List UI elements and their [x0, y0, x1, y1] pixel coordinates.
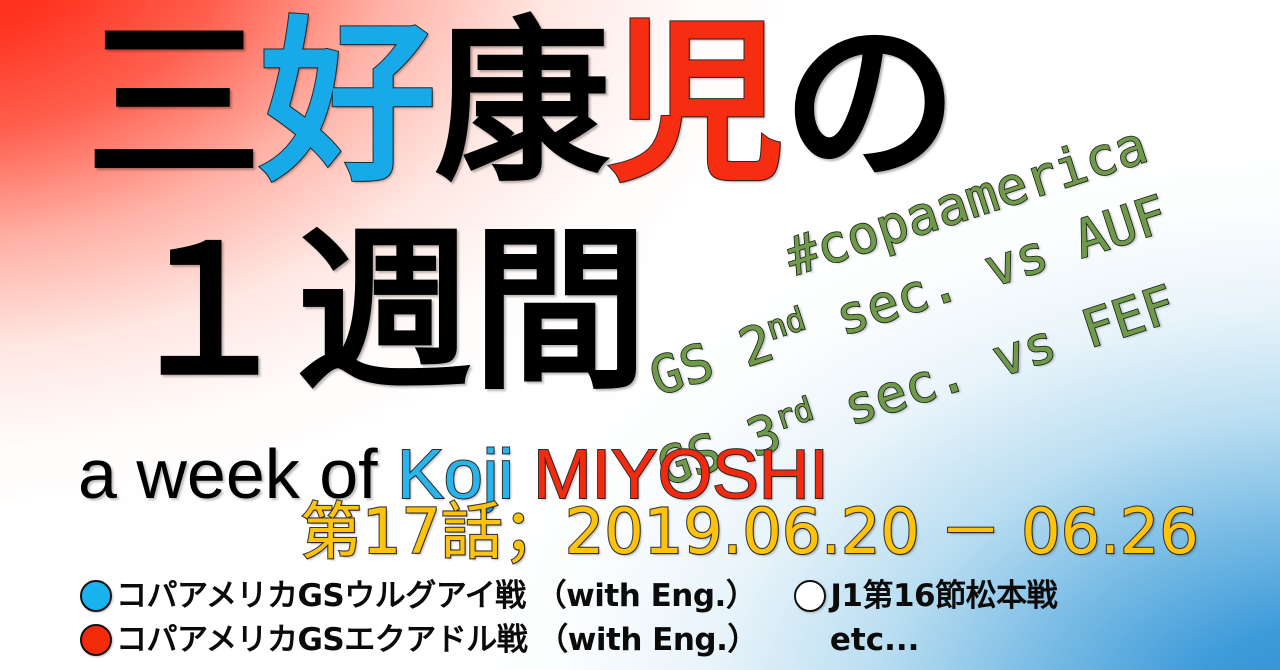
list-item-etc: etc... — [830, 618, 920, 662]
title-char-yoshi: 好 — [260, 1, 434, 206]
list-item-note: （with Eng.） — [536, 574, 757, 618]
list-item: コパアメリカGSエクアドル戦 （with Eng.） etc... — [80, 618, 1270, 662]
title-char-ko: 康 — [434, 1, 608, 206]
list-item-label: コパアメリカGSウルグアイ戦 — [116, 574, 526, 618]
title-char-no: の — [782, 1, 956, 206]
list-item-secondary-label: J1第16節松本戦 — [830, 574, 1057, 618]
list-item: コパアメリカGSウルグアイ戦 （with Eng.） J1第16節松本戦 — [80, 574, 1270, 618]
list-item-label: コパアメリカGSエクアドル戦 — [116, 618, 527, 662]
title-line-1: 三好康児の — [86, 6, 956, 202]
bullet-cyan-icon — [80, 580, 112, 612]
thumbnail-canvas: 三好康児の １週間 #copaamerica GS 2nd sec. vs AU… — [0, 0, 1280, 670]
bullet-red-icon — [80, 624, 112, 656]
title-line-2: １週間 — [120, 214, 648, 410]
list-item-note: （with Eng.） — [537, 618, 758, 662]
content-list: コパアメリカGSウルグアイ戦 （with Eng.） J1第16節松本戦 コパア… — [80, 574, 1270, 662]
title-char-mi: 三 — [86, 1, 260, 206]
list-item-secondary: J1第16節松本戦 — [794, 574, 1057, 618]
title-char-ji: 児 — [608, 1, 782, 206]
episode-date-line: 第17話；2019.06.20 － 06.26 — [300, 499, 1199, 565]
bullet-white-icon — [794, 580, 826, 612]
